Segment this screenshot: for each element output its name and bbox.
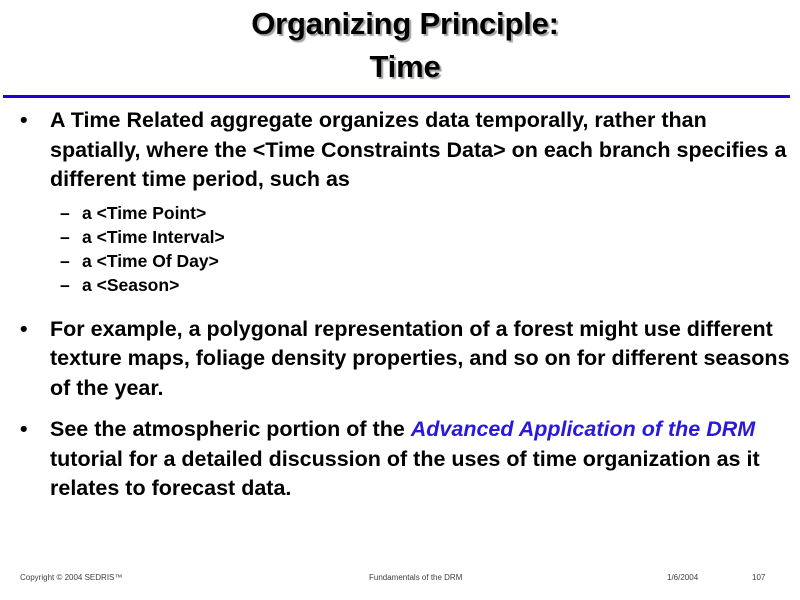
- sub-bullet-list: – a <Time Point> – a <Time Interval> – a…: [0, 201, 800, 297]
- footer-deck-title: Fundamentals of the DRM: [369, 573, 462, 582]
- bullet-marker-icon: •: [20, 106, 28, 136]
- bullet-item-2: • For example, a polygonal representatio…: [0, 315, 800, 404]
- sub-bullet-item-1: – a <Time Point>: [0, 201, 800, 225]
- dash-marker-icon: –: [60, 273, 70, 297]
- dash-marker-icon: –: [60, 249, 70, 273]
- sub-bullet-item-3: – a <Time Of Day>: [0, 249, 800, 273]
- spacer: [0, 405, 800, 415]
- bullet-item-1-text: A Time Related aggregate organizes data …: [50, 108, 786, 191]
- sub-bullet-item-4: – a <Season>: [0, 273, 800, 297]
- slide-body: • A Time Related aggregate organizes dat…: [0, 106, 800, 506]
- dash-marker-icon: –: [60, 225, 70, 249]
- bullet-item-3: • See the atmospheric portion of the Adv…: [0, 415, 800, 504]
- title-line-1: Organizing Principle:: [10, 2, 800, 45]
- bullet-marker-icon: •: [20, 315, 28, 345]
- bullet-marker-icon: •: [20, 415, 28, 445]
- bullet-item-3-prefix: See the atmospheric portion of the: [50, 417, 411, 441]
- page-title: Organizing Principle: Time: [10, 2, 800, 88]
- footer-date: 1/6/2004: [667, 573, 698, 582]
- title-divider-rule: [3, 95, 790, 98]
- dash-marker-icon: –: [60, 201, 70, 225]
- tutorial-reference-link[interactable]: Advanced Application of the DRM: [411, 417, 755, 441]
- spacer: [0, 305, 800, 315]
- slide: Organizing Principle: Time • A Time Rela…: [0, 0, 800, 600]
- bullet-item-3-suffix: tutorial for a detailed discussion of th…: [50, 447, 760, 501]
- sub-bullet-item-2-text: a <Time Interval>: [82, 227, 225, 247]
- sub-bullet-item-2: – a <Time Interval>: [0, 225, 800, 249]
- sub-bullet-item-4-text: a <Season>: [82, 275, 179, 295]
- sub-bullet-item-3-text: a <Time Of Day>: [82, 251, 219, 271]
- footer-copyright: Copyright © 2004 SEDRIS™: [20, 573, 122, 582]
- slide-footer: Copyright © 2004 SEDRIS™ Fundamentals of…: [0, 568, 800, 588]
- footer-page-number: 107: [752, 573, 765, 582]
- title-line-2: Time: [10, 45, 800, 88]
- bullet-item-2-text: For example, a polygonal representation …: [50, 317, 790, 400]
- bullet-item-1: • A Time Related aggregate organizes dat…: [0, 106, 800, 195]
- sub-bullet-item-1-text: a <Time Point>: [82, 203, 206, 223]
